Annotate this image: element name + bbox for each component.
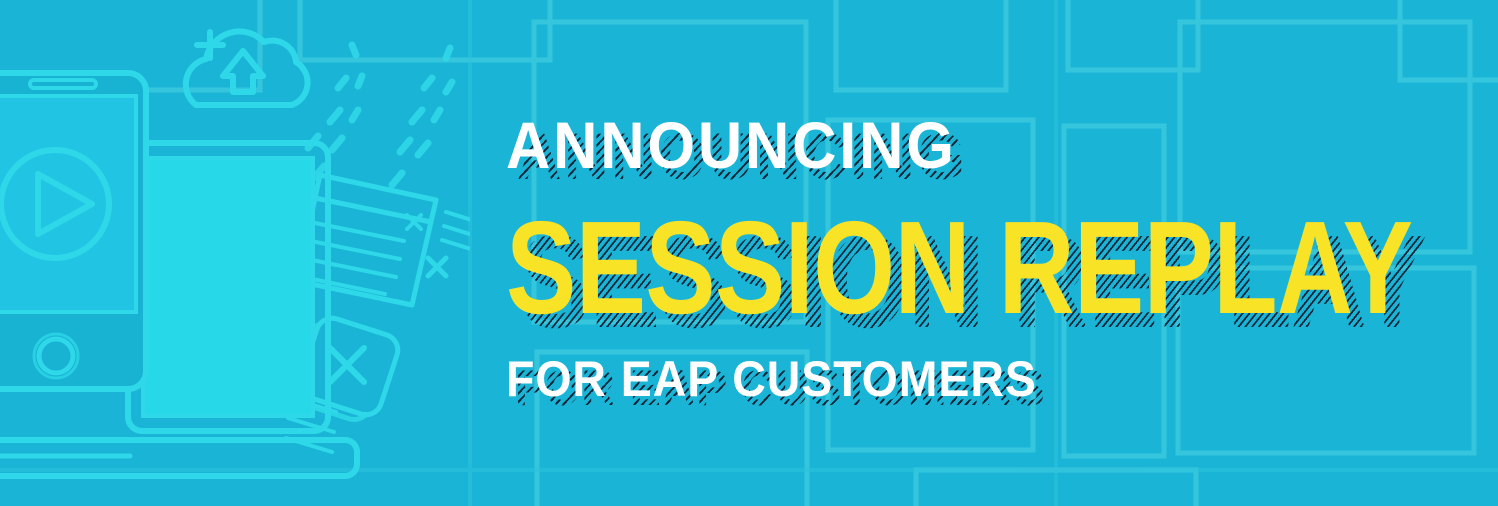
smartphone <box>0 73 146 389</box>
announcement-banner: ANNOUNCING ANNOUNCING SESSION REPLAY SES… <box>0 0 1498 506</box>
headline-text: SESSION REPLAY <box>506 202 1226 334</box>
headline-copy-block: ANNOUNCING ANNOUNCING SESSION REPLAY SES… <box>506 112 1406 412</box>
session-replay-illustration <box>0 0 470 506</box>
subhead-for-eap-customers: FOR EAP CUSTOMERS FOR EAP CUSTOMERS <box>506 354 1406 410</box>
small-x-mark <box>428 258 446 276</box>
document-card <box>297 175 436 305</box>
speed-lines <box>442 212 470 250</box>
eyebrow-announcing: ANNOUNCING ANNOUNCING <box>506 112 1406 186</box>
eyebrow-text: ANNOUNCING <box>506 112 1343 178</box>
subhead-text: FOR EAP CUSTOMERS <box>506 354 1343 404</box>
headline-session-replay: SESSION REPLAY SESSION REPLAY <box>506 202 1406 334</box>
